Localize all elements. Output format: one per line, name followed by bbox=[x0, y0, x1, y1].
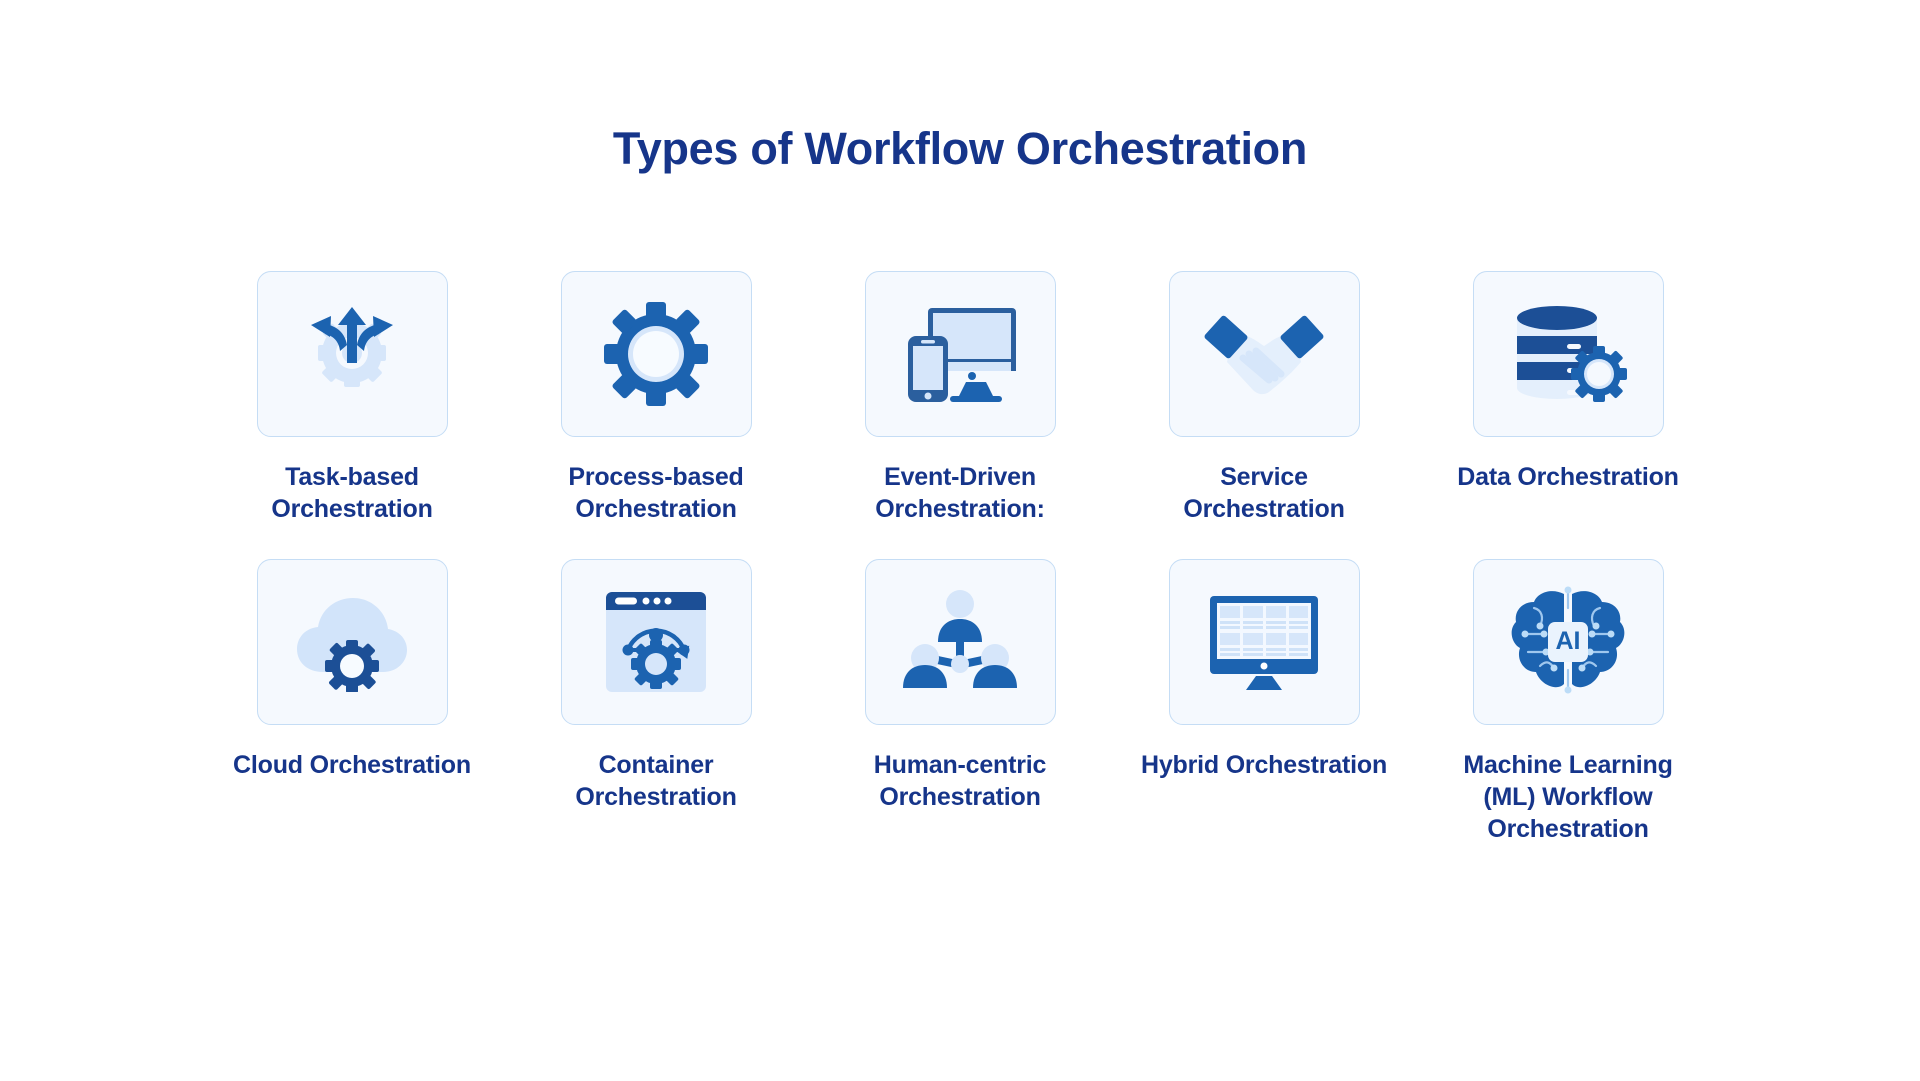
icon-card[interactable] bbox=[865, 559, 1056, 725]
grid-item-container[interactable]: Container Orchestration bbox=[504, 559, 808, 845]
item-label: Process-based Orchestration bbox=[531, 461, 781, 525]
icon-card[interactable] bbox=[865, 271, 1056, 437]
browser-window-gear-icon bbox=[602, 588, 710, 696]
grid-item-human-centric[interactable]: Human-centric Orchestration bbox=[808, 559, 1112, 845]
item-label: Data Orchestration bbox=[1457, 461, 1678, 493]
icon-card[interactable] bbox=[561, 559, 752, 725]
grid-item-machine-learning[interactable]: AI Machine Learning (ML) Workflow Orches… bbox=[1416, 559, 1720, 845]
grid-item-hybrid[interactable]: Hybrid Orchestration bbox=[1112, 559, 1416, 845]
item-label: Cloud Orchestration bbox=[233, 749, 471, 781]
item-label: Machine Learning (ML) Workflow Orchestra… bbox=[1443, 749, 1693, 845]
icon-card[interactable] bbox=[561, 271, 752, 437]
orchestration-types-grid: Task-based Orchestration bbox=[200, 171, 1720, 845]
item-label: Service Orchestration bbox=[1139, 461, 1389, 525]
grid-item-data[interactable]: Data Orchestration bbox=[1416, 271, 1720, 525]
ai-brain-chip-icon: AI bbox=[1510, 586, 1626, 698]
grid-item-cloud[interactable]: Cloud Orchestration bbox=[200, 559, 504, 845]
item-label: Container Orchestration bbox=[531, 749, 781, 813]
icon-card[interactable] bbox=[257, 559, 448, 725]
grid-item-event-driven[interactable]: Event-Driven Orchestration: bbox=[808, 271, 1112, 525]
icon-card[interactable] bbox=[1473, 271, 1664, 437]
monitor-dashboard-icon bbox=[1206, 592, 1322, 692]
page-title: Types of Workflow Orchestration bbox=[0, 0, 1920, 171]
grid-item-process-based[interactable]: Process-based Orchestration bbox=[504, 271, 808, 525]
item-label: Task-based Orchestration bbox=[227, 461, 477, 525]
monitor-smartphone-icon bbox=[900, 300, 1020, 408]
grid-item-task-based[interactable]: Task-based Orchestration bbox=[200, 271, 504, 525]
grid-item-service[interactable]: Service Orchestration bbox=[1112, 271, 1416, 525]
item-label: Hybrid Orchestration bbox=[1141, 749, 1387, 781]
cloud-gear-icon bbox=[293, 592, 411, 692]
icon-card[interactable] bbox=[1169, 559, 1360, 725]
item-label: Human-centric Orchestration bbox=[835, 749, 1085, 813]
item-label: Event-Driven Orchestration: bbox=[835, 461, 1085, 525]
icon-card[interactable] bbox=[257, 271, 448, 437]
people-network-icon bbox=[901, 588, 1019, 696]
svg-text:AI: AI bbox=[1556, 627, 1581, 655]
database-gear-icon bbox=[1509, 302, 1627, 406]
icon-card[interactable]: AI bbox=[1473, 559, 1664, 725]
handshake-icon bbox=[1203, 306, 1325, 402]
infographic-page: Types of Workflow Orchestration bbox=[0, 0, 1920, 1081]
icon-card[interactable] bbox=[1169, 271, 1360, 437]
gear-icon bbox=[602, 300, 710, 408]
branching-arrows-gear-icon bbox=[297, 299, 407, 409]
